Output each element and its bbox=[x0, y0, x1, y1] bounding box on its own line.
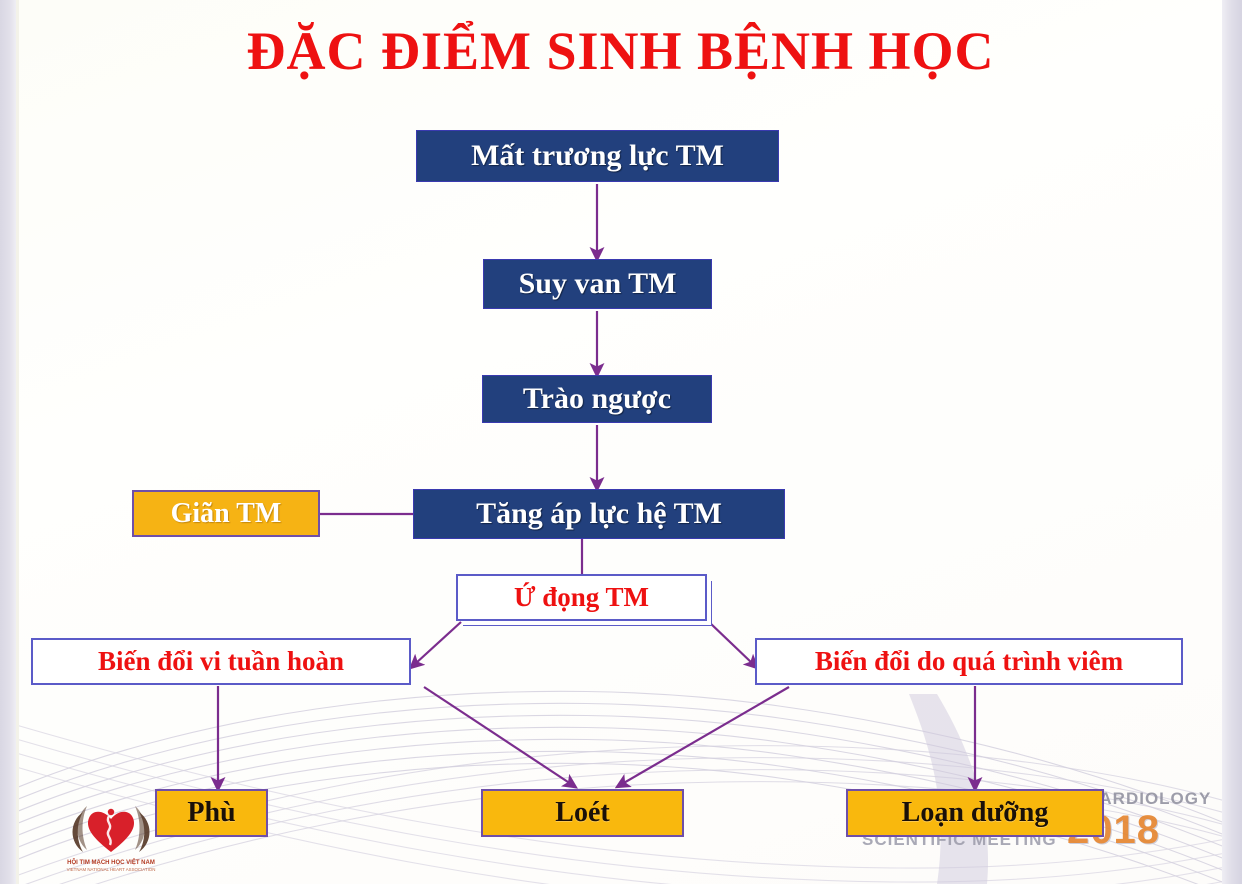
svg-text:HỘI TIM MẠCH HỌC VIỆT NAM: HỘI TIM MẠCH HỌC VIỆT NAM bbox=[67, 858, 155, 866]
edge-udong-to-vituanhoan bbox=[415, 622, 461, 664]
slide-content-area: F CARDIOLOGY 2018 SCIENTIFIC MEETING ĐẶC… bbox=[19, 0, 1222, 884]
node-bien-doi-vi-tuan-hoan[interactable]: Biến đổi vi tuần hoàn bbox=[31, 638, 411, 685]
slide-canvas: F CARDIOLOGY 2018 SCIENTIFIC MEETING ĐẶC… bbox=[0, 0, 1242, 884]
node-loan-duong[interactable]: Loạn dưỡng bbox=[846, 789, 1104, 837]
node-u-dong-tm[interactable]: Ứ đọng TM bbox=[456, 574, 707, 621]
right-edge-band bbox=[1222, 0, 1242, 884]
node-loet[interactable]: Loét bbox=[481, 789, 684, 837]
edge-vituanhoan-to-loet bbox=[424, 687, 571, 784]
left-edge-band bbox=[0, 0, 16, 884]
svg-text:VIETNAM NATIONAL HEART ASSOCIA: VIETNAM NATIONAL HEART ASSOCIATION bbox=[67, 867, 156, 872]
slide-title: ĐẶC ĐIỂM SINH BỆNH HỌC bbox=[19, 22, 1222, 81]
node-mat-truong-luc-tm[interactable]: Mất trương lực TM bbox=[416, 130, 779, 182]
node-trao-nguoc[interactable]: Trào ngược bbox=[482, 375, 712, 423]
node-suy-van-tm[interactable]: Suy van TM bbox=[483, 259, 712, 309]
heart-association-logo-icon: HỘI TIM MẠCH HỌC VIỆT NAM VIETNAM NATION… bbox=[63, 790, 159, 874]
edge-udong-to-viem bbox=[709, 622, 753, 664]
node-phu[interactable]: Phù bbox=[155, 789, 268, 837]
node-gian-tm[interactable]: Giãn TM bbox=[132, 490, 320, 537]
edge-viem-to-loet bbox=[622, 687, 789, 784]
node-bien-doi-do-qua-trinh-viem[interactable]: Biến đổi do quá trình viêm bbox=[755, 638, 1183, 685]
node-tang-ap-luc-he-tm[interactable]: Tăng áp lực hệ TM bbox=[413, 489, 785, 539]
